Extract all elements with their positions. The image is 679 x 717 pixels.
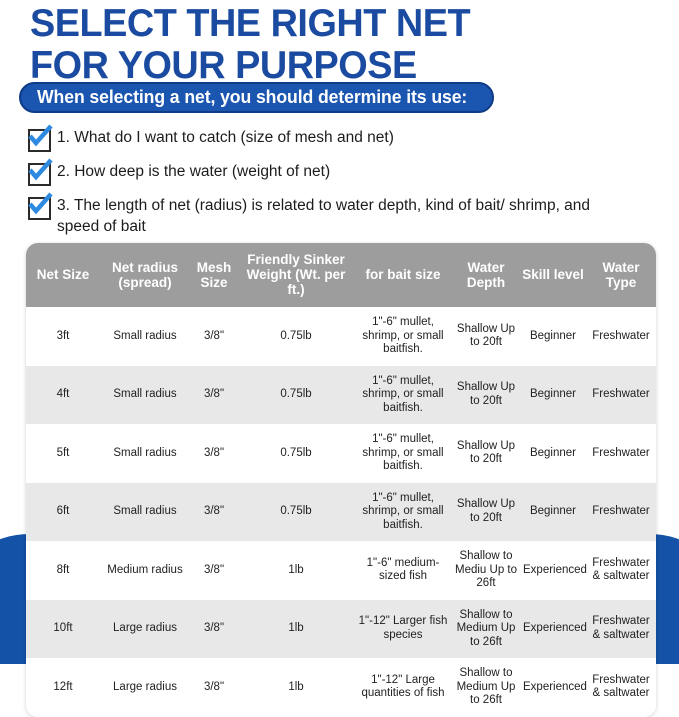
table-row: 4ft Small radius 3/8" 0.75lb 1"-6" mulle…	[26, 366, 656, 425]
cell-net-radius: Small radius	[100, 366, 190, 425]
column-header-mesh-size: Mesh Size	[190, 243, 238, 307]
cell-net-radius: Small radius	[100, 424, 190, 483]
cell-bait-size: 1"-12" Larger fish species	[354, 600, 452, 659]
cell-sinker-weight: 0.75lb	[238, 366, 354, 425]
column-header-skill-level: Skill level	[520, 243, 586, 307]
column-header-net-size: Net Size	[26, 243, 100, 307]
cell-water-type: Freshwater	[586, 483, 656, 542]
checklist-item-label: 3. The length of net (radius) is related…	[57, 195, 632, 237]
cell-sinker-weight: 1lb	[238, 600, 354, 659]
column-header-water-depth: Water Depth	[452, 243, 520, 307]
cell-net-size: 8ft	[26, 541, 100, 600]
cell-net-radius: Small radius	[100, 307, 190, 366]
cell-net-radius: Small radius	[100, 483, 190, 542]
cell-net-size: 5ft	[26, 424, 100, 483]
cell-net-radius: Medium radius	[100, 541, 190, 600]
cell-sinker-weight: 0.75lb	[238, 307, 354, 366]
cell-bait-size: 1"-6" mullet, shrimp, or small baitfish.	[354, 424, 452, 483]
cell-skill-level: Beginner	[520, 483, 586, 542]
cell-mesh-size: 3/8"	[190, 600, 238, 659]
cell-water-depth: Shallow to Medium Up to 26ft	[452, 658, 520, 717]
checkmark-icon	[28, 129, 51, 152]
cell-mesh-size: 3/8"	[190, 307, 238, 366]
table-header-row: Net Size Net radius (spread) Mesh Size F…	[26, 243, 656, 307]
list-item: 1. What do I want to catch (size of mesh…	[28, 127, 658, 152]
column-header-sinker-weight: Friendly Sinker Weight (Wt. per ft.)	[238, 243, 354, 307]
cell-water-depth: Shallow Up to 20ft	[452, 483, 520, 542]
cell-net-size: 4ft	[26, 366, 100, 425]
cell-mesh-size: 3/8"	[190, 483, 238, 542]
table-row: 3ft Small radius 3/8" 0.75lb 1"-6" mulle…	[26, 307, 656, 366]
cell-skill-level: Beginner	[520, 424, 586, 483]
cell-net-radius: Large radius	[100, 658, 190, 717]
cell-mesh-size: 3/8"	[190, 424, 238, 483]
checklist-item-label: 2. How deep is the water (weight of net)	[57, 161, 330, 182]
cell-water-type: Freshwater & saltwater	[586, 600, 656, 659]
cell-net-size: 6ft	[26, 483, 100, 542]
table-row: 6ft Small radius 3/8" 0.75lb 1"-6" mulle…	[26, 483, 656, 542]
cell-water-depth: Shallow Up to 20ft	[452, 366, 520, 425]
cell-net-size: 12ft	[26, 658, 100, 717]
checkmark-icon	[28, 197, 51, 220]
list-item: 3. The length of net (radius) is related…	[28, 195, 658, 237]
cell-water-depth: Shallow to Medium Up to 26ft	[452, 600, 520, 659]
cell-net-size: 3ft	[26, 307, 100, 366]
cell-water-type: Freshwater & saltwater	[586, 541, 656, 600]
cell-skill-level: Beginner	[520, 366, 586, 425]
column-header-bait-size: for bait size	[354, 243, 452, 307]
table-row: 5ft Small radius 3/8" 0.75lb 1"-6" mulle…	[26, 424, 656, 483]
column-header-water-type: Water Type	[586, 243, 656, 307]
checklist-item-label: 1. What do I want to catch (size of mesh…	[57, 127, 394, 148]
cell-water-type: Freshwater	[586, 424, 656, 483]
table-row: 8ft Medium radius 3/8" 1lb 1"-6" medium-…	[26, 541, 656, 600]
page-title-line-2: FOR YOUR PURPOSE	[30, 44, 631, 86]
cell-mesh-size: 3/8"	[190, 366, 238, 425]
cell-water-depth: Shallow to Mediu Up to 26ft	[452, 541, 520, 600]
checkmark-icon	[28, 163, 51, 186]
checklist: 1. What do I want to catch (size of mesh…	[28, 127, 658, 246]
cell-mesh-size: 3/8"	[190, 541, 238, 600]
cell-net-radius: Large radius	[100, 600, 190, 659]
cell-water-type: Freshwater & saltwater	[586, 658, 656, 717]
cell-mesh-size: 3/8"	[190, 658, 238, 717]
cell-water-type: Freshwater	[586, 307, 656, 366]
cell-sinker-weight: 1lb	[238, 658, 354, 717]
cell-bait-size: 1"-6" mullet, shrimp, or small baitfish.	[354, 483, 452, 542]
table-row: 12ft Large radius 3/8" 1lb 1"-12" Large …	[26, 658, 656, 717]
list-item: 2. How deep is the water (weight of net)	[28, 161, 658, 186]
cell-skill-level: Beginner	[520, 307, 586, 366]
page-title-line-1: SELECT THE RIGHT NET	[30, 0, 631, 44]
cell-sinker-weight: 0.75lb	[238, 424, 354, 483]
cell-bait-size: 1"-12" Large quantities of fish	[354, 658, 452, 717]
cell-skill-level: Experienced	[520, 541, 586, 600]
cell-bait-size: 1"-6" mullet, shrimp, or small baitfish.	[354, 307, 452, 366]
cell-bait-size: 1"-6" medium-sized fish	[354, 541, 452, 600]
cell-water-type: Freshwater	[586, 366, 656, 425]
cell-net-size: 10ft	[26, 600, 100, 659]
page-title: SELECT THE RIGHT NET FOR YOUR PURPOSE	[30, 0, 650, 86]
cell-water-depth: Shallow Up to 20ft	[452, 307, 520, 366]
net-selection-table: Net Size Net radius (spread) Mesh Size F…	[26, 243, 656, 717]
cell-sinker-weight: 1lb	[238, 541, 354, 600]
cell-sinker-weight: 0.75lb	[238, 483, 354, 542]
cell-bait-size: 1"-6" mullet, shrimp, or small baitfish.	[354, 366, 452, 425]
cell-skill-level: Experienced	[520, 658, 586, 717]
cell-water-depth: Shallow Up to 20ft	[452, 424, 520, 483]
table-row: 10ft Large radius 3/8" 1lb 1"-12" Larger…	[26, 600, 656, 659]
column-header-net-radius: Net radius (spread)	[100, 243, 190, 307]
banner-text: When selecting a net, you should determi…	[37, 87, 467, 108]
cell-skill-level: Experienced	[520, 600, 586, 659]
banner-pill: When selecting a net, you should determi…	[19, 82, 494, 113]
